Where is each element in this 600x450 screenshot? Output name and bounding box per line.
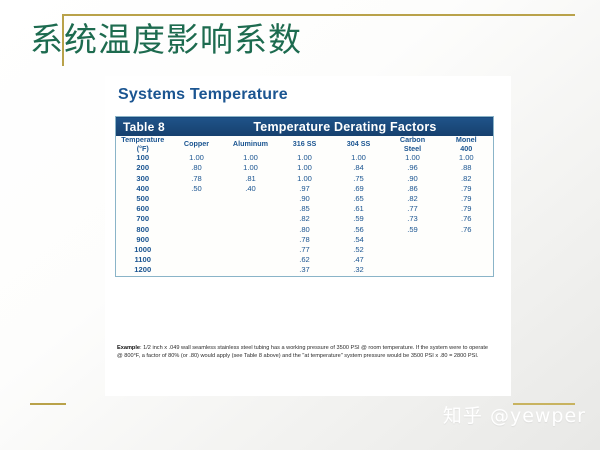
cell-copper: .50–– (170, 184, 224, 215)
example-label: Example (117, 345, 140, 351)
cell-value: 1.00 (278, 153, 332, 163)
cell-value: .77 (386, 204, 440, 214)
cell-value: 600 (116, 204, 170, 214)
cell-value: 1.00 (440, 153, 494, 163)
cell-value: 800 (116, 225, 170, 235)
cell-ss316: 1.001.001.00 (278, 153, 332, 184)
table-row: 100011001200––––––.77.62.37.52.47.32––––… (116, 245, 494, 276)
cell-value: .59 (332, 214, 386, 224)
cell-carbon_steel: ––– (386, 245, 440, 276)
cell-aluminum: ––– (224, 214, 278, 245)
cell-carbon_steel: 1.00.96.90 (386, 153, 440, 184)
content-card: Systems Temperature Table 8 Temperature … (105, 76, 511, 396)
cell-temperature: 700800900 (116, 214, 170, 245)
cell-value: .54 (332, 235, 386, 245)
table-banner-row: Table 8 Temperature Derating Factors (116, 117, 494, 137)
cell-value: .80 (278, 225, 332, 235)
cell-value: .96 (386, 163, 440, 173)
cell-value: .75 (332, 174, 386, 184)
cell-value: .81 (224, 174, 278, 184)
cell-value: .59 (386, 225, 440, 235)
cell-value: .79 (440, 184, 494, 194)
cell-value: 1.00 (170, 153, 224, 163)
cell-monel400: .79.79.79 (440, 184, 494, 215)
column-header-line1: Aluminum (224, 140, 278, 149)
cell-aluminum: ––– (224, 245, 278, 276)
cell-temperature: 400500600 (116, 184, 170, 215)
cell-value: 1.00 (278, 174, 332, 184)
cell-value: .32 (332, 265, 386, 275)
panel-heading: Systems Temperature (118, 86, 288, 104)
bottom-rule-left (30, 403, 66, 405)
title-rule-top (62, 14, 575, 16)
cell-value: .76 (440, 214, 494, 224)
cell-value: .78 (170, 174, 224, 184)
cell-value: .56 (332, 225, 386, 235)
cell-value: .37 (278, 265, 332, 275)
cell-value: 1000 (116, 245, 170, 255)
table-row: 1002003001.00.80.781.001.00.811.001.001.… (116, 153, 494, 184)
cell-value: 1200 (116, 265, 170, 275)
cell-value: 900 (116, 235, 170, 245)
cell-copper: ––– (170, 245, 224, 276)
table-row: 400500600.50––.40––.97.90.85.69.65.61.86… (116, 184, 494, 215)
cell-value: .40 (224, 184, 278, 194)
column-header-3: Aluminum (224, 136, 278, 153)
table-header-row: Temperature(°F)CopperAluminum316 SS304 S… (116, 136, 494, 153)
cell-aluminum: .40–– (224, 184, 278, 215)
cell-value: .65 (332, 194, 386, 204)
cell-value: .84 (332, 163, 386, 173)
cell-value: .90 (278, 194, 332, 204)
cell-value: 1.00 (386, 153, 440, 163)
cell-value: 300 (116, 174, 170, 184)
example-line-1: : 1/2 inch x .049 wall seamless stainles… (140, 345, 360, 351)
column-header-7: Monel400 (440, 136, 494, 153)
cell-copper: ––– (170, 214, 224, 245)
cell-value: .61 (332, 204, 386, 214)
cell-value: .73 (386, 214, 440, 224)
cell-value: 500 (116, 194, 170, 204)
cell-value: .77 (278, 245, 332, 255)
cell-value: .82 (278, 214, 332, 224)
cell-value: 700 (116, 214, 170, 224)
cell-value: 1.00 (278, 163, 332, 173)
column-header-1: Temperature(°F) (116, 136, 170, 153)
cell-ss304: .59.56.54 (332, 214, 386, 245)
cell-value: .90 (386, 174, 440, 184)
cell-value: 200 (116, 163, 170, 173)
column-header-line1: Copper (170, 140, 224, 149)
cell-value: .50 (170, 184, 224, 194)
column-header-line2: Steel (386, 145, 440, 154)
cell-ss304: .69.65.61 (332, 184, 386, 215)
column-header-line1: 316 SS (278, 140, 332, 149)
cell-value: 400 (116, 184, 170, 194)
cell-value: 1100 (116, 255, 170, 265)
page-title: 系统温度影响系数 (30, 18, 302, 62)
cell-value: .52 (332, 245, 386, 255)
cell-ss316: .97.90.85 (278, 184, 332, 215)
table-number-label: Table 8 (116, 120, 211, 134)
column-header-4: 316 SS (278, 136, 332, 153)
column-header-line1: 304 SS (332, 140, 386, 149)
example-note: Example: 1/2 inch x .049 wall seamless s… (117, 344, 491, 361)
column-header-line2: (°F) (116, 145, 170, 154)
cell-value: .80 (170, 163, 224, 173)
column-header-6: CarbonSteel (386, 136, 440, 153)
table-row: 700800900––––––.82.80.78.59.56.54.73.59–… (116, 214, 494, 245)
cell-carbon_steel: .86.82.77 (386, 184, 440, 215)
cell-monel400: ––– (440, 245, 494, 276)
cell-value: .47 (332, 255, 386, 265)
cell-monel400: 1.00.88.82 (440, 153, 494, 184)
cell-copper: 1.00.80.78 (170, 153, 224, 184)
cell-value: 1.00 (224, 163, 278, 173)
cell-ss304: 1.00.84.75 (332, 153, 386, 184)
cell-temperature: 100200300 (116, 153, 170, 184)
cell-value: 100 (116, 153, 170, 163)
cell-aluminum: 1.001.00.81 (224, 153, 278, 184)
cell-value: .69 (332, 184, 386, 194)
cell-value: .82 (386, 194, 440, 204)
cell-value: .78 (278, 235, 332, 245)
table-title: Temperature Derating Factors (211, 120, 493, 134)
cell-ss316: .82.80.78 (278, 214, 332, 245)
cell-ss304: .52.47.32 (332, 245, 386, 276)
cell-value: .76 (440, 225, 494, 235)
cell-value: .62 (278, 255, 332, 265)
cell-value: .88 (440, 163, 494, 173)
watermark: 知乎 @yewper (443, 401, 586, 428)
title-area: 系统温度影响系数 (0, 0, 600, 74)
cell-value: 1.00 (332, 153, 386, 163)
column-header-5: 304 SS (332, 136, 386, 153)
cell-value: 1.00 (224, 153, 278, 163)
cell-value: .97 (278, 184, 332, 194)
cell-value: .79 (440, 194, 494, 204)
cell-value: .82 (440, 174, 494, 184)
column-header-line2: 400 (440, 145, 494, 154)
column-header-2: Copper (170, 136, 224, 153)
cell-monel400: .76.76– (440, 214, 494, 245)
cell-ss316: .77.62.37 (278, 245, 332, 276)
cell-value: .86 (386, 184, 440, 194)
example-line-3: (see Table 8 above) and the "at temperat… (232, 353, 479, 359)
cell-value: .85 (278, 204, 332, 214)
temperature-derating-table: Table 8 Temperature Derating Factors Tem… (115, 116, 494, 277)
cell-carbon_steel: .73.59– (386, 214, 440, 245)
slide-canvas: 系统温度影响系数 Systems Temperature Table 8 Tem… (0, 0, 600, 450)
table-banner-cell: Table 8 Temperature Derating Factors (116, 117, 494, 137)
cell-temperature: 100011001200 (116, 245, 170, 276)
cell-value: .79 (440, 204, 494, 214)
